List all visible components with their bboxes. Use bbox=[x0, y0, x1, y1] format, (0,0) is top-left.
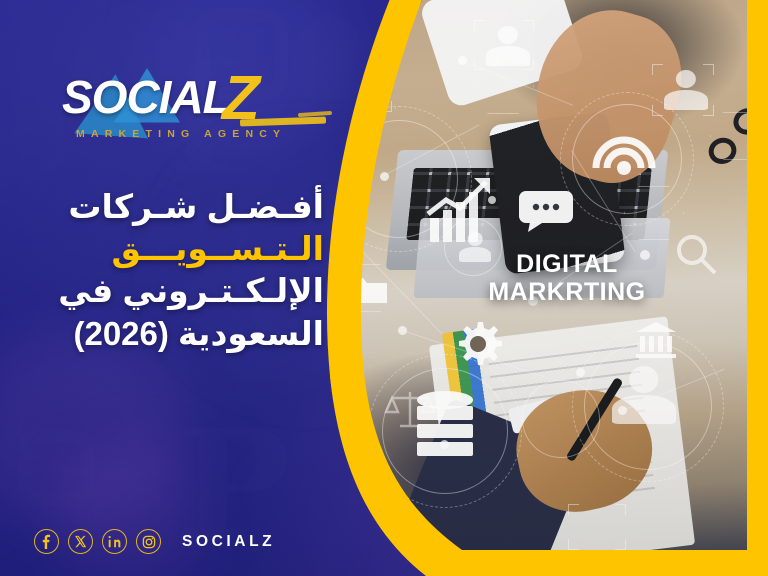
headline-line-2: الـتـســويـــق bbox=[24, 228, 324, 270]
right-yellow-bar bbox=[747, 0, 768, 576]
socialz-logo[interactable]: SOCIAL Z MARKETING AGENCY bbox=[62, 72, 302, 150]
photo-overlay-caption: DIGITAL MARKRTING bbox=[452, 250, 682, 306]
photo-panel: DIGITAL MARKRTING bbox=[330, 0, 768, 576]
facebook-icon[interactable] bbox=[34, 529, 59, 554]
logo-wordmark: SOCIAL bbox=[62, 74, 230, 120]
marketing-banner: f P bbox=[0, 0, 768, 576]
x-icon[interactable] bbox=[68, 529, 93, 554]
headline-line-4: السعودية (2026) bbox=[24, 313, 324, 355]
headline-block: أفـضـل شـركات الـتـســويـــق الإلـكـتـرو… bbox=[24, 186, 324, 355]
footer-bar: SOCIALZ bbox=[34, 529, 275, 554]
linkedin-icon[interactable] bbox=[102, 529, 127, 554]
footer-brand-name: SOCIALZ bbox=[182, 533, 275, 551]
user-silhouette-icon bbox=[340, 66, 388, 108]
logo-tagline: MARKETING AGENCY bbox=[76, 128, 286, 140]
headline-line-1: أفـضـل شـركات bbox=[24, 186, 324, 228]
instagram-icon[interactable] bbox=[136, 529, 161, 554]
caption-line-1: DIGITAL bbox=[452, 250, 682, 278]
caption-line-2: MARKRTING bbox=[452, 278, 682, 306]
headline-line-3: الإلـكـتـروني في bbox=[24, 270, 324, 312]
